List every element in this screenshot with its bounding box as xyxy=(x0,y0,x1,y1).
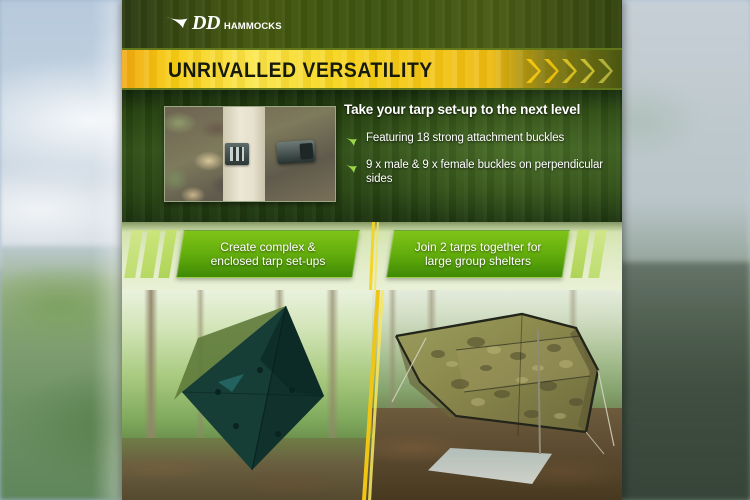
female-buckle xyxy=(276,140,315,165)
page-title: UNRIVALLED VERSATILITY xyxy=(168,59,433,83)
decor-bar xyxy=(140,230,161,278)
decor-bar xyxy=(124,230,143,278)
panel-header: DD HAMMOCKS xyxy=(122,0,622,48)
brand-logo: DD HAMMOCKS xyxy=(166,13,282,33)
feature-bullet: Featuring 18 strong attachment buckles xyxy=(344,131,606,145)
caption-box-left: Create complex & enclosed tarp set-ups xyxy=(176,230,360,278)
green-tarp-shelter xyxy=(174,300,324,476)
feature-bullet: 9 x male & 9 x female buckles on perpend… xyxy=(344,158,606,186)
caption-left-text: Create complex & enclosed tarp set-ups xyxy=(211,240,326,269)
camo-tarp-shelter xyxy=(390,306,616,456)
feature-copy: Take your tarp set-up to the next level … xyxy=(344,102,606,186)
hammock-swoosh-icon xyxy=(166,16,188,30)
camo-fabric xyxy=(165,107,335,201)
feature-section: Take your tarp set-up to the next level … xyxy=(122,90,622,222)
product-image xyxy=(164,106,336,202)
caption-left-line1: Create complex & xyxy=(220,240,315,254)
brand-logo-secondary: HAMMOCKS xyxy=(224,21,282,32)
chevron-right-icon xyxy=(543,58,560,84)
male-buckle xyxy=(225,143,249,165)
caption-right-line2: large group shelters xyxy=(425,254,531,268)
background-right-shadow xyxy=(620,262,750,500)
photo-left xyxy=(122,290,374,500)
tree-trunk xyxy=(326,290,339,455)
photo-row xyxy=(122,290,622,500)
decor-bar xyxy=(588,230,607,278)
title-band: UNRIVALLED VERSATILITY xyxy=(122,48,622,90)
feature-bullet-label: 9 x male & 9 x female buckles on perpend… xyxy=(366,158,606,186)
check-swoosh-icon xyxy=(344,161,357,171)
feature-heading: Take your tarp set-up to the next level xyxy=(344,102,606,118)
chevron-right-icon xyxy=(597,58,614,84)
caption-right-line1: Join 2 tarps together for xyxy=(415,240,542,254)
chevron-group xyxy=(525,58,614,84)
caption-left-line2: enclosed tarp set-ups xyxy=(211,254,326,268)
brand-logo-primary: DD xyxy=(192,13,220,33)
yellow-divider-photos xyxy=(360,290,386,500)
caption-right-text: Join 2 tarps together for large group sh… xyxy=(415,240,542,269)
chevron-right-icon xyxy=(561,58,578,84)
check-swoosh-icon xyxy=(344,134,357,144)
caption-box-right: Join 2 tarps together for large group sh… xyxy=(386,230,570,278)
caption-band: Create complex & enclosed tarp set-ups J… xyxy=(122,222,622,290)
decor-bar xyxy=(570,230,590,278)
decor-bar xyxy=(158,230,177,278)
content-panel: DD HAMMOCKS UNRIVALLED VERSATILITY xyxy=(122,0,622,500)
poster-canvas: DD HAMMOCKS UNRIVALLED VERSATILITY xyxy=(0,0,750,500)
photo-right xyxy=(372,290,622,500)
tree-trunk xyxy=(144,290,158,460)
yellow-divider-top xyxy=(366,222,382,290)
chevron-right-icon xyxy=(579,58,596,84)
feature-bullet-label: Featuring 18 strong attachment buckles xyxy=(366,131,564,145)
chevron-right-icon xyxy=(525,58,542,84)
